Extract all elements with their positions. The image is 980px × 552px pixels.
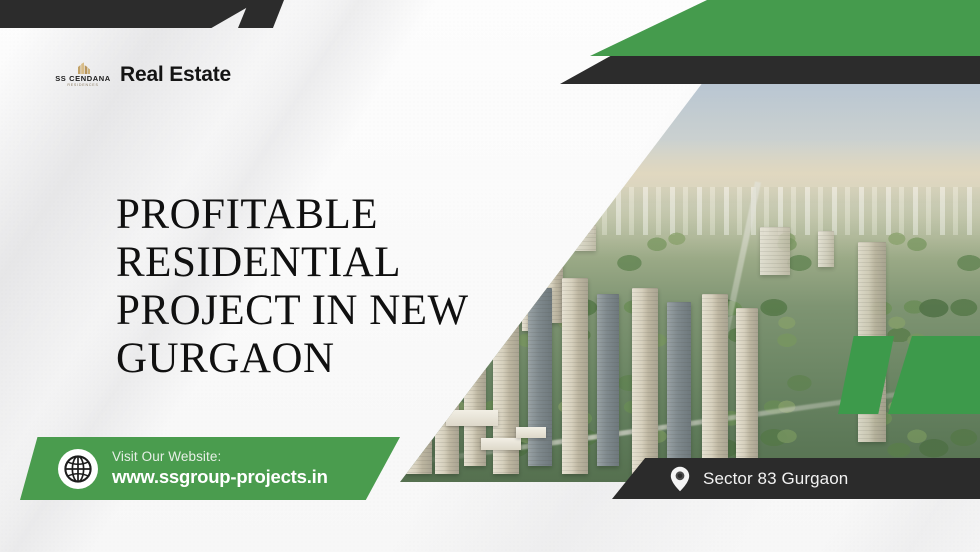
photo-tower-far [760, 227, 790, 275]
photo-lowrise [516, 427, 546, 438]
website-label: Visit Our Website: [112, 449, 328, 464]
brand-title: Real Estate [120, 63, 231, 87]
website-url[interactable]: www.ssgroup-projects.in [112, 466, 328, 488]
globe-icon [58, 449, 98, 489]
page-title: Profitable Residential Project in New Gu… [116, 191, 536, 384]
photo-tower [736, 308, 758, 458]
photo-tower [632, 288, 658, 474]
location-bar: Sector 83 Gurgaon [612, 458, 980, 499]
logo-name: SS CENDANA [55, 75, 111, 83]
photo-tower [667, 302, 691, 462]
brand-logo[interactable]: SS CENDANA RESIDENCES Real Estate [58, 58, 231, 92]
photo-lowrise [446, 410, 498, 426]
website-banner[interactable]: Visit Our Website: www.ssgroup-projects.… [20, 437, 400, 500]
photo-tower-far [818, 231, 834, 267]
logo-subtitle: RESIDENCES [67, 84, 98, 88]
photo-tower [597, 294, 619, 466]
poster-canvas: SS CENDANA RESIDENCES Real Estate Profit… [0, 0, 980, 552]
location-text: Sector 83 Gurgaon [703, 469, 848, 489]
photo-tower [562, 278, 588, 474]
logo-mark-icon: SS CENDANA RESIDENCES [58, 58, 108, 92]
photo-lowrise [481, 438, 521, 450]
website-text-block: Visit Our Website: www.ssgroup-projects.… [112, 449, 328, 488]
photo-tower [702, 294, 728, 470]
map-pin-icon [670, 466, 690, 492]
top-right-dark-band [560, 56, 980, 84]
